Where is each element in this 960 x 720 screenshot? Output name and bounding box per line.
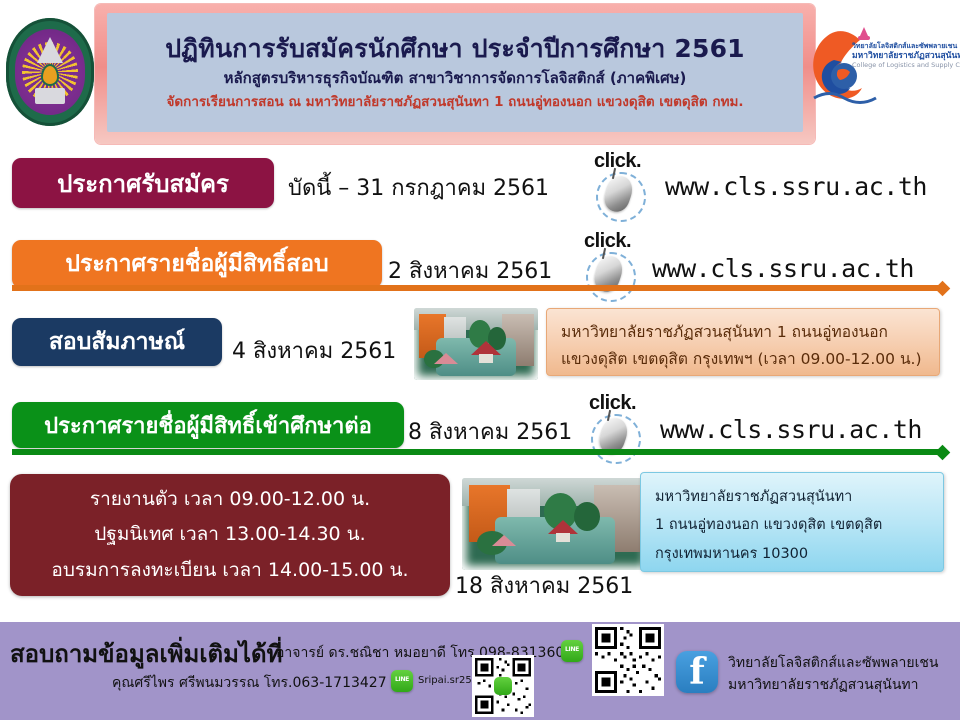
- address-line1: มหาวิทยาลัยราชภัฏสวนสุนันทา: [655, 483, 929, 511]
- website-url-3[interactable]: www.cls.ssru.ac.th: [660, 415, 922, 444]
- divider-arrow-orange: [12, 283, 948, 293]
- website-url-1[interactable]: www.cls.ssru.ac.th: [665, 172, 927, 201]
- ssru-university-seal-icon: [6, 18, 94, 126]
- click-mouse-indicator-1[interactable]: click.: [588, 152, 670, 220]
- click-label-3: click.: [589, 392, 636, 415]
- row-label-interview[interactable]: สอบสัมภาษณ์: [12, 318, 222, 366]
- address-line3: กรุงเทพมหานคร 10300: [655, 540, 929, 568]
- facebook-page-name: วิทยาลัยโลจิสติกส์และซัพพลายเชน มหาวิทยา…: [728, 652, 938, 697]
- click-label-2: click.: [584, 230, 631, 253]
- facebook-line2: มหาวิทยาลัยราชภัฏสวนสุนันทา: [728, 674, 938, 696]
- facebook-icon[interactable]: [676, 651, 718, 693]
- website-url-2[interactable]: www.cls.ssru.ac.th: [652, 254, 914, 283]
- header-banner: ปฏิทินการรับสมัครนักศึกษา ประจำปีการศึกษ…: [95, 4, 815, 144]
- schedule-line-registration: อบรมการลงทะเบียน เวลา 14.00-15.00 น.: [51, 553, 408, 588]
- poster-canvas: ปฏิทินการรับสมัครนักศึกษา ประจำปีการศึกษ…: [0, 0, 960, 720]
- row-date-admitted-list: 8 สิงหาคม 2561: [408, 414, 572, 449]
- line-app-icon-1[interactable]: [561, 640, 583, 662]
- college-logo-line2: มหาวิทยาลัยราชภัฏสวนสุนันทา: [852, 51, 954, 62]
- row-label-admitted-list[interactable]: ประกาศรายชื่อผู้มีสิทธิ์เข้าศึกษาต่อ: [12, 402, 404, 448]
- schedule-line-orientation: ปฐมนิเทศ เวลา 13.00-14.30 น.: [94, 517, 365, 552]
- header-inner-band: ปฏิทินการรับสมัครนักศึกษา ประจำปีการศึกษ…: [107, 13, 803, 132]
- header-subtitle-program: หลักสูตรบริหารธุรกิจบัณฑิต สาขาวิชาการจั…: [224, 68, 687, 89]
- qr-code-left: [472, 655, 534, 717]
- schedule-line-report: รายงานตัว เวลา 09.00-12.00 น.: [90, 482, 370, 517]
- row-date-interview: 4 สิงหาคม 2561: [232, 333, 396, 368]
- college-logo-line1: วิทยาลัยโลจิสติกส์และซัพพลายเชน: [852, 42, 954, 51]
- orientation-date: 18 สิงหาคม 2561: [455, 568, 633, 603]
- college-logistics-logo-icon: วิทยาลัยโลจิสติกส์และซัพพลายเชน มหาวิทยา…: [800, 14, 955, 112]
- interview-venue-line2: แขวงดุสิต เขตดุสิต กรุงเทพฯ (เวลา 09.00-…: [561, 346, 925, 373]
- interview-venue-line1: มหาวิทยาลัยราชภัฏสวนสุนันทา 1 ถนนอู่ทองน…: [561, 319, 925, 346]
- line-app-icon-2[interactable]: [391, 670, 413, 692]
- row-date-application-announcement: บัดนี้ – 31 กรกฎาคม 2561: [288, 170, 549, 205]
- campus-photo-small: [414, 308, 538, 380]
- divider-arrow-green: [12, 447, 948, 457]
- address-line2: 1 ถนนอู่ทองนอก แขวงดุสิต เขตดุสิต: [655, 511, 929, 539]
- header-subtitle-location: จัดการเรียนการสอน ณ มหาวิทยาลัยราชภัฏสวน…: [166, 92, 743, 112]
- college-logo-line3: College of Logistics and Supply Chain: [852, 61, 954, 69]
- page-title: ปฏิทินการรับสมัครนักศึกษา ประจำปีการศึกษ…: [165, 33, 745, 64]
- qr-code-right: [592, 624, 664, 696]
- footer-contact-2: คุณศรีไพร ศรีพนมวรรณ โทร.063-1713427: [112, 672, 387, 694]
- footer-title: สอบถามข้อมูลเพิ่มเติมได้ที่: [10, 634, 282, 673]
- row-label-exam-eligible-list[interactable]: ประกาศรายชื่อผู้มีสิทธิ์สอบ: [12, 240, 382, 288]
- orientation-schedule-box: รายงานตัว เวลา 09.00-12.00 น. ปฐมนิเทศ เ…: [10, 474, 450, 596]
- facebook-line1: วิทยาลัยโลจิสติกส์และซัพพลายเชน: [728, 652, 938, 674]
- campus-photo-large: [462, 478, 648, 570]
- click-label-1: click.: [594, 150, 641, 173]
- row-label-application-announcement[interactable]: ประกาศรับสมัคร: [12, 158, 274, 208]
- interview-venue-box: มหาวิทยาลัยราชภัฏสวนสุนันทา 1 ถนนอู่ทองน…: [546, 308, 940, 376]
- university-address-box: มหาวิทยาลัยราชภัฏสวนสุนันทา 1 ถนนอู่ทองน…: [640, 472, 944, 572]
